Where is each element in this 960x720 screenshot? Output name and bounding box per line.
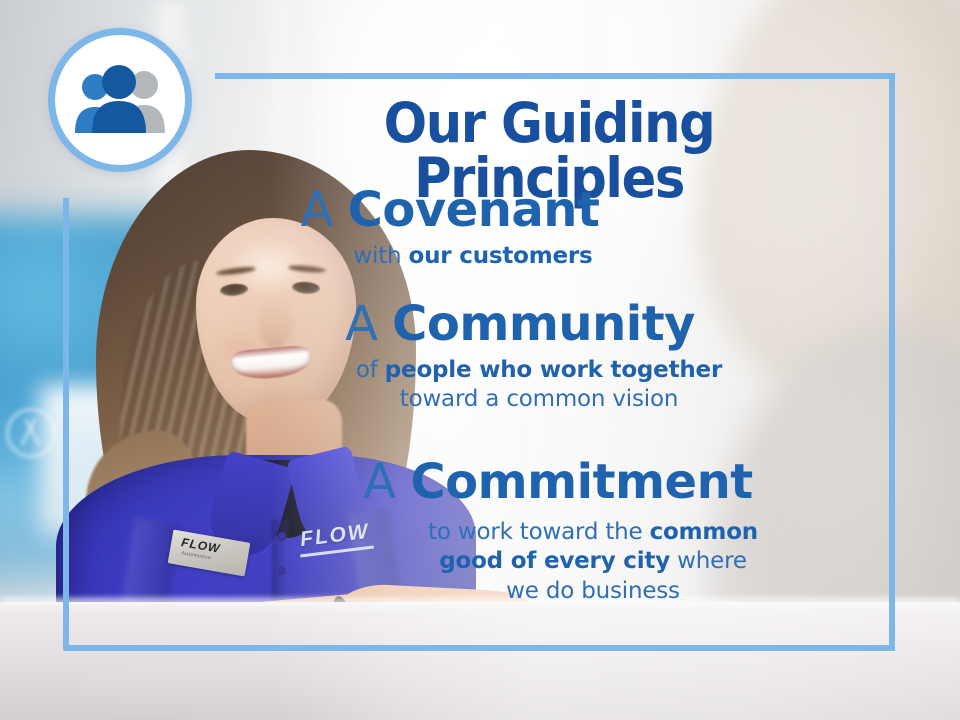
subtext-line: to work toward the common [298,518,888,547]
frame-left-border [63,198,69,651]
subtext-segment: of [356,357,385,383]
subtext-segment-bold: good of every city [439,548,670,574]
subtext-segment-bold: our customers [409,243,593,269]
principle-title: A Community [190,300,850,350]
principle-article: A [301,182,348,238]
principle-article: A [345,296,392,352]
people-group-badge [48,28,192,172]
frame-right-border [889,73,895,651]
guiding-principles-poster: FLOW FLOW Automotive [0,0,960,720]
principle-title: A Commitment [228,458,888,508]
principle-community: A Community of people who work together … [190,300,850,415]
subtext-line: with our customers [353,243,592,269]
subtext-line: good of every city where [298,547,888,576]
principle-article: A [363,454,410,510]
people-group-icon [68,65,172,135]
subtext-line: of people who work together [228,356,850,385]
principle-noun: Commitment [410,454,752,510]
subtext-segment: to work toward the [428,519,650,545]
principle-commitment: A Commitment to work toward the common g… [228,458,888,606]
subtext-line: we do business [298,577,888,606]
principle-noun: Community [392,296,695,352]
frame-top-border [215,73,895,79]
principle-subtext: with our customers [120,242,780,271]
principle-subtext: to work toward the common good of every … [228,518,888,606]
subtext-segment: we do business [506,578,680,604]
subtext-segment: with [353,243,408,269]
frame-bottom-border [63,645,895,651]
principle-noun: Covenant [348,182,600,238]
principle-subtext: of people who work together toward a com… [190,356,850,415]
principle-title: A Covenant [120,186,780,236]
subtext-segment-bold: people who work together [385,357,722,383]
subtext-segment: toward a common vision [400,386,678,412]
principle-covenant: A Covenant with our customers [120,186,780,271]
subtext-segment: where [670,548,747,574]
subtext-segment-bold: common [650,519,758,545]
subtext-line: toward a common vision [228,385,850,414]
